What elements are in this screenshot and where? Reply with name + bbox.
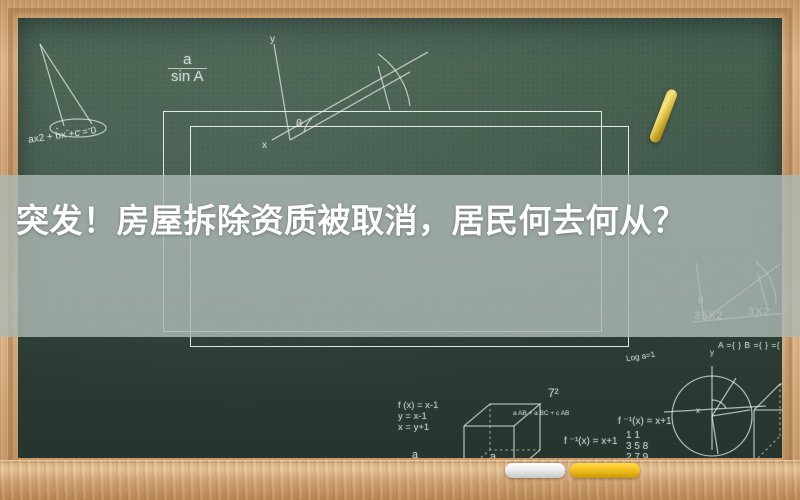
function-lines-note: f (x) = x-1 y = x-1 x = y+1 <box>398 400 438 433</box>
chalk-tray <box>0 460 800 500</box>
sine-rule-bottom-2: a sin A <box>478 452 508 458</box>
inverse-function-note: f ⁻¹(x) = x+1 <box>564 436 618 447</box>
triangle-sum-note: a AB + a BC + c AB <box>513 410 569 417</box>
axis-label-y-right: y <box>710 348 714 357</box>
axis-label-x-right: x <box>696 406 700 415</box>
sine-rule-left-numerator: a <box>168 52 207 69</box>
exponent-seven-note: 7² <box>548 386 559 400</box>
cube-diagram-center <box>456 396 576 458</box>
sine-rule-bottom-1: a sin A <box>400 450 430 458</box>
sine-rule-left: a sin A <box>168 52 207 85</box>
set-notation-note: A ={ } B ={ } ={ } <box>718 340 782 350</box>
sine-rule-left-denominator: sin A <box>168 69 207 85</box>
sine-rule-bottom-1-numerator: a <box>400 450 430 458</box>
headline-text: 突发！房屋拆除资质被取消，居民何去何从？ <box>16 200 790 242</box>
blackboard-poster: a sin A ax2 + bx +c = 0 y x θ θ 35X2 3X2 <box>0 0 800 500</box>
axis-label-y-left: y <box>270 34 275 45</box>
white-chalk-stick <box>505 463 565 478</box>
sine-rule-bottom-2-numerator: a <box>478 452 508 458</box>
equation-x-plus-one: f ⁻¹(x) = x+1 <box>618 416 672 427</box>
long-division-note: 1 1 3 5 8 2 7 9 6 3 7 <box>626 430 648 458</box>
cube-diagram-right <box>748 370 782 458</box>
yellow-chalk-stick <box>570 463 640 478</box>
chalk-tray-grain <box>0 460 800 500</box>
